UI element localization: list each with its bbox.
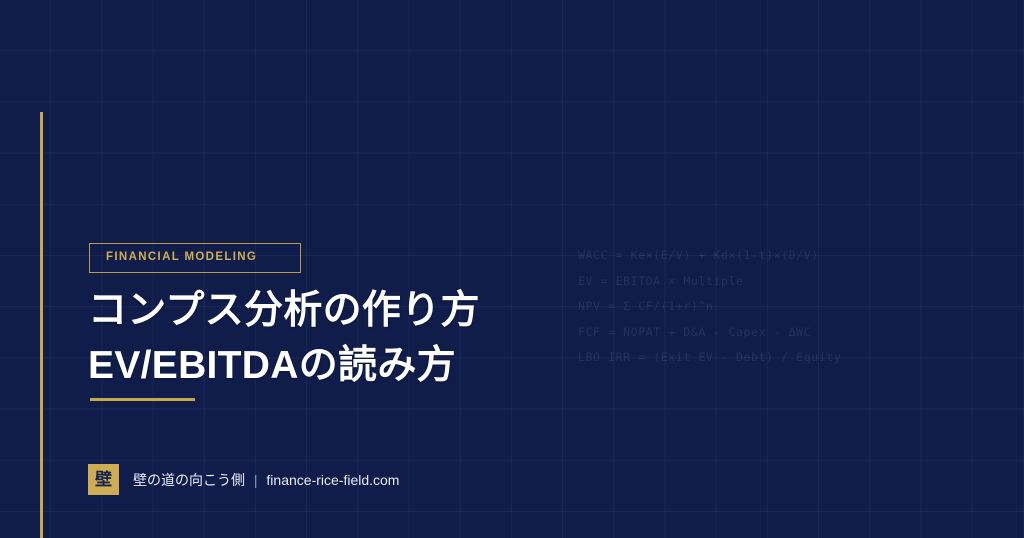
formula-line-lbo-irr: LBO IRR = (Exit EV - Debt) / Equity xyxy=(578,345,998,371)
footer-separator: | xyxy=(254,472,258,488)
formula-line-ev: EV = EBITDA × Multiple xyxy=(578,269,998,295)
category-tag: FINANCIAL MODELING xyxy=(89,243,301,273)
formula-watermark-list: WACC = Ke×(E/V) + Kd×(1-t)×(D/V) EV = EB… xyxy=(578,243,998,371)
formula-line-wacc: WACC = Ke×(E/V) + Kd×(1-t)×(D/V) xyxy=(578,243,998,269)
category-tag-label: FINANCIAL MODELING xyxy=(106,252,257,264)
formula-line-fcf: FCF = NOPAT + D&A - Capex - ΔWC xyxy=(578,320,998,346)
brand-logo-glyph: 壁 xyxy=(95,471,112,488)
title-divider xyxy=(90,398,195,401)
page-title: コンプス分析の作り方 EV/EBITDAの読み方 xyxy=(88,283,480,393)
footer-site-name: 壁の道の向こう側 xyxy=(133,472,245,488)
brand-logo-badge: 壁 xyxy=(88,464,119,495)
formula-line-npv: NPV = Σ CF/(1+r)^n xyxy=(578,294,998,320)
page-title-line-2: EV/EBITDAの読み方 xyxy=(88,338,480,393)
footer-brand: 壁 壁の道の向こう側 | finance-rice-field.com xyxy=(88,464,399,495)
left-accent-rule xyxy=(40,112,43,538)
slide-canvas: WACC = Ke×(E/V) + Kd×(1-t)×(D/V) EV = EB… xyxy=(0,0,1024,538)
footer-domain: finance-rice-field.com xyxy=(266,472,399,488)
footer-brand-text: 壁の道の向こう側 | finance-rice-field.com xyxy=(133,473,399,487)
page-title-line-1: コンプス分析の作り方 xyxy=(88,283,480,338)
